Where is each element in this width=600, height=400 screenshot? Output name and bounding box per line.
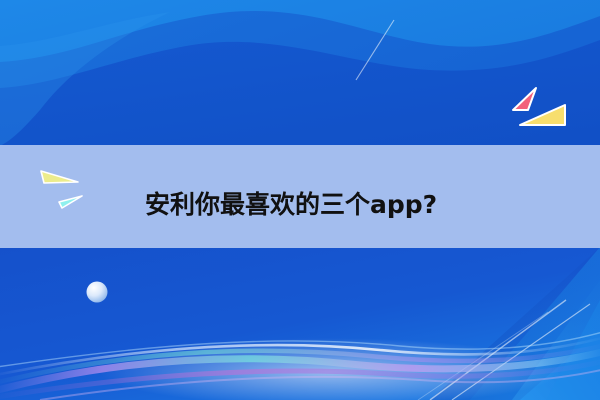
poster-canvas: 安利你最喜欢的三个app? bbox=[0, 0, 600, 400]
banner-title: 安利你最喜欢的三个app? bbox=[145, 189, 475, 221]
top-wave-group bbox=[0, 0, 600, 146]
bottom-scene-group bbox=[0, 247, 600, 400]
sphere-icon bbox=[87, 282, 108, 303]
